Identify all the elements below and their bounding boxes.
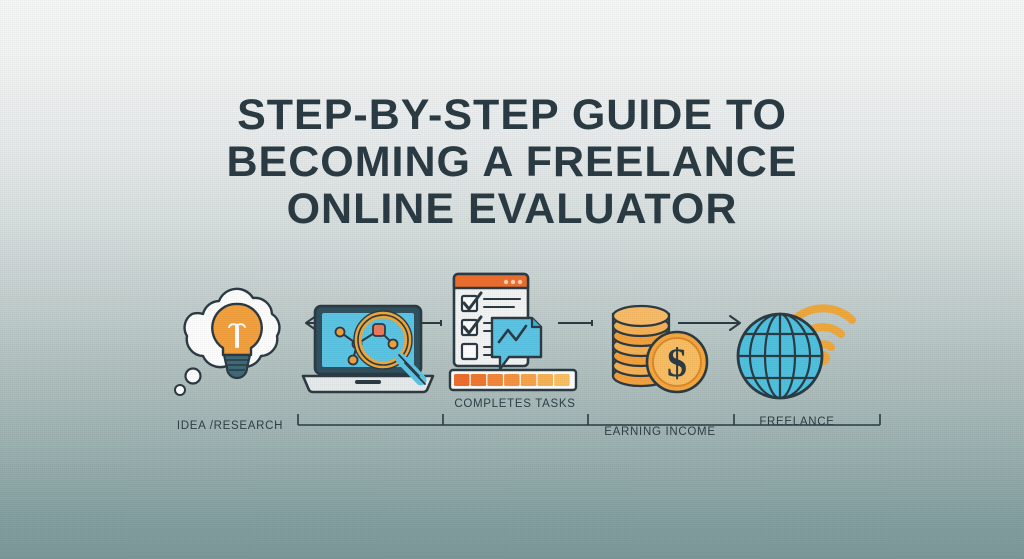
poster-canvas: STEP-BY-STEP GUIDE TO BECOMING A FREELAN… [0,0,1024,559]
coin-stack-dollar-icon: $ [585,290,735,420]
flow-node-laptop[interactable] [295,292,445,422]
globe-wifi-icon [722,280,872,410]
thought-bubble-lightbulb-icon [155,284,305,414]
flow-node-freelance[interactable]: FREELANCE [722,280,872,410]
progress-segment [454,374,470,386]
title-line-3: ONLINE EVALUATOR [0,186,1024,233]
progress-bar [450,370,576,390]
flow-node-label-idea: IDEA /RESEARCH [155,420,305,432]
thought-dot-large [186,369,201,384]
flow-node-income[interactable]: $ EARNING INCOME [585,290,735,420]
svg-text:$: $ [667,340,687,385]
progress-segment [471,374,487,386]
flow-node-tasks[interactable]: COMPLETES TASKS [440,262,590,392]
flow-node-label-income: EARNING INCOME [585,426,735,438]
progress-segment [521,374,537,386]
checklist-window-icon [440,262,590,392]
progress-segment [487,374,503,386]
title-line-2: BECOMING A FREELANCE [0,139,1024,186]
flow-node-idea[interactable]: IDEA /RESEARCH [155,284,305,414]
thought-dot-small [175,385,185,395]
progress-segment [538,374,554,386]
progress-segment [504,374,519,386]
flow-node-label-freelance: FREELANCE [722,416,872,428]
progress-segment [554,374,570,386]
title-line-1: STEP-BY-STEP GUIDE TO [0,92,1024,139]
flow-diagram: IDEA /RESEARCH [0,262,1024,442]
laptop-magnifier-icon [295,292,445,422]
flow-node-label-tasks: COMPLETES TASKS [440,398,590,410]
page-title: STEP-BY-STEP GUIDE TO BECOMING A FREELAN… [0,92,1024,233]
